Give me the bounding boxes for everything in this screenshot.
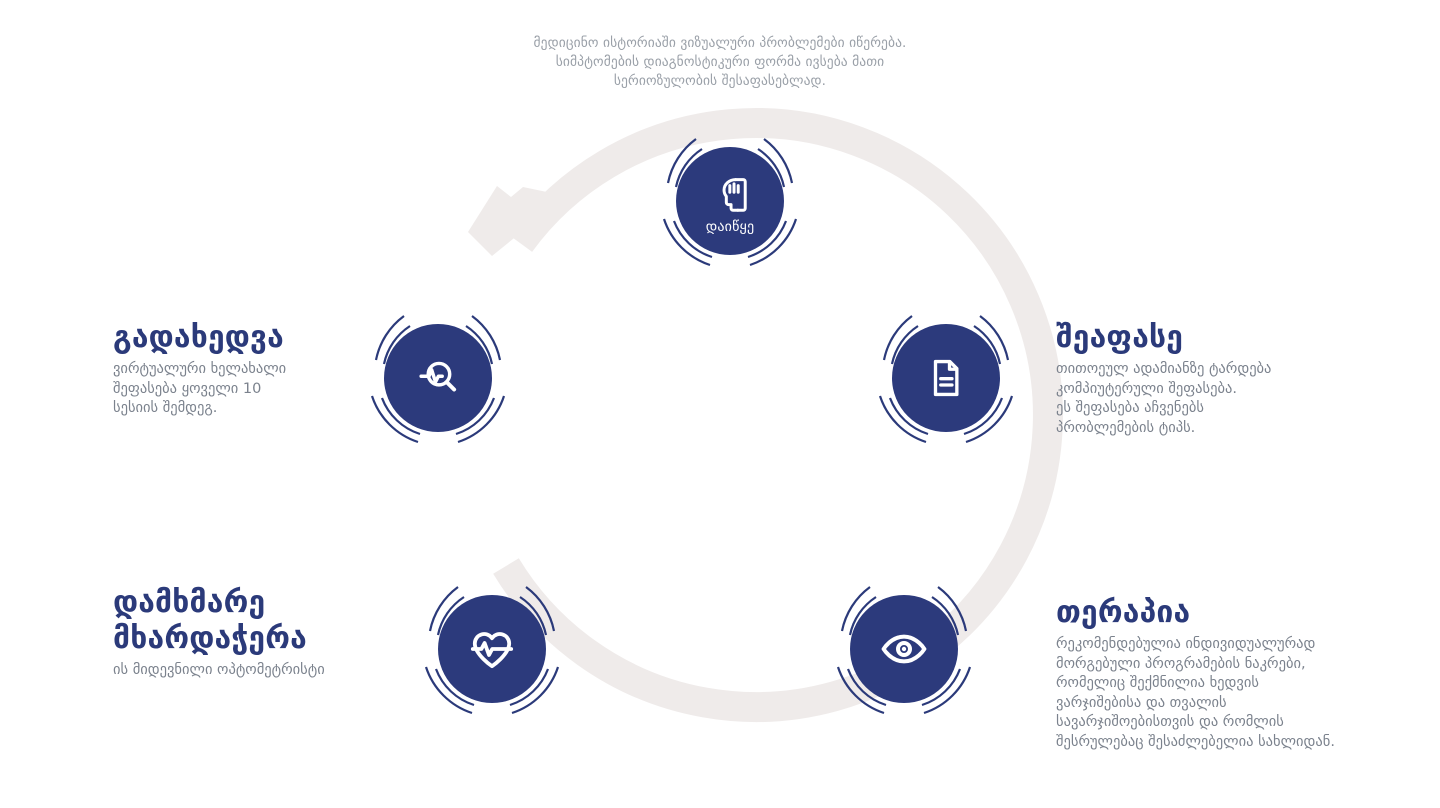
block-support: დამხმარე მხარდაჭერა ის მიდევნილი ოპტომეტ… — [113, 585, 443, 681]
node-start-label: დაიწყე — [706, 219, 755, 235]
body-line: პრობლემების ტიპს. — [1056, 419, 1386, 439]
node-disc[interactable]: დაიწყე — [676, 147, 784, 255]
node-therapy[interactable] — [824, 569, 984, 729]
block-assess-body: თითოეულ ადამიანზე ტარდება კომპიუტერული შ… — [1056, 360, 1386, 438]
block-assess-title: შეაფასე — [1056, 320, 1386, 356]
body-line: ეს შეფასება აჩვენებს — [1056, 399, 1386, 419]
node-start[interactable]: დაიწყე — [650, 121, 810, 281]
block-therapy-title: თერაპია — [1056, 595, 1406, 631]
heart-pulse-icon — [468, 625, 516, 673]
eye-icon — [880, 625, 928, 673]
block-review-body: ვირტუალური ხელახალი შეფასება ყოველი 10 ს… — [113, 360, 403, 419]
body-line: სესიის შემდეგ. — [113, 399, 403, 419]
body-line: ის მიდევნილი ოპტომეტრისტი — [113, 661, 443, 681]
magnifier-pulse-icon — [415, 355, 461, 401]
block-assess: შეაფასე თითოეულ ადამიანზე ტარდება კომპიუ… — [1056, 320, 1386, 438]
node-disc[interactable] — [438, 595, 546, 703]
block-support-body: ის მიდევნილი ოპტომეტრისტი — [113, 661, 443, 681]
body-line: რეკომენდებულია ინდივიდუალურად — [1056, 635, 1406, 655]
body-line: რომელიც შექმნილია ხედვის — [1056, 674, 1406, 694]
node-disc[interactable] — [850, 595, 958, 703]
block-support-title-line1: დამხმარე — [113, 585, 443, 621]
body-line: ვირტუალური ხელახალი — [113, 360, 403, 380]
node-assess[interactable] — [866, 298, 1026, 458]
body-line: შესრულებაც შესაძლებელია სახლიდან. — [1056, 733, 1406, 753]
block-review-title: გადახედვა — [113, 320, 403, 356]
head-brain-icon — [709, 174, 751, 216]
body-line: მორგებული პროგრამების ნაკრები, — [1056, 655, 1406, 675]
block-review: გადახედვა ვირტუალური ხელახალი შეფასება ყ… — [113, 320, 403, 419]
node-disc[interactable] — [892, 324, 1000, 432]
block-support-title-line2: მხარდაჭერა — [113, 621, 443, 657]
block-therapy: თერაპია რეკომენდებულია ინდივიდუალურად მო… — [1056, 595, 1406, 752]
body-line: ვარჯიშებისა და თვალის — [1056, 694, 1406, 714]
body-line: კომპიუტერული შეფასება. — [1056, 380, 1386, 400]
body-line: თითოეულ ადამიანზე ტარდება — [1056, 360, 1386, 380]
block-therapy-body: რეკომენდებულია ინდივიდუალურად მორგებული … — [1056, 635, 1406, 752]
infographic-canvas: მედიცინო ისტორიაში ვიზუალური პრობლემები … — [0, 0, 1440, 808]
body-line: სავარჯიშოებისთვის და რომლის — [1056, 713, 1406, 733]
body-line: შეფასება ყოველი 10 — [113, 380, 403, 400]
document-icon — [925, 357, 967, 399]
